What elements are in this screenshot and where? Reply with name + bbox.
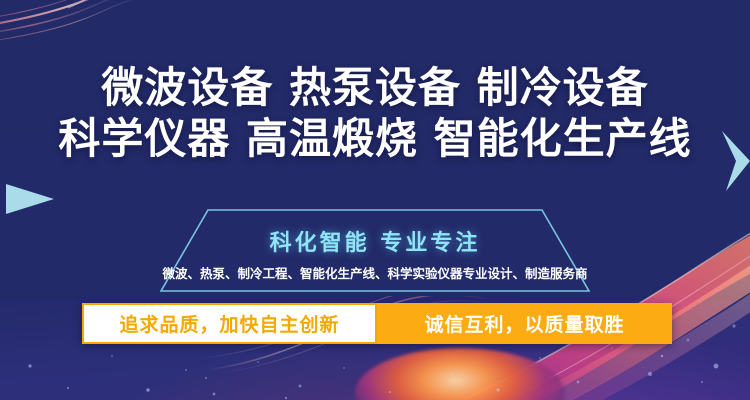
triangle-right-icon: [6, 184, 54, 214]
promotional-banner: 微波设备 热泵设备 制冷设备 科学仪器 高温煅烧 智能化生产线 科化智能 专业专…: [0, 0, 750, 400]
slogan-strip-left: 追求品质，加快自主创新: [82, 303, 377, 344]
bottom-slogan-strips: 追求品质，加快自主创新 诚信互利，以质量取胜: [82, 303, 672, 344]
headline-line-1: 微波设备 热泵设备 制冷设备: [0, 62, 750, 113]
slogan-title: 科化智能 专业专注: [160, 225, 590, 257]
headline-line-2: 科学仪器 高温煅烧 智能化生产线: [0, 113, 750, 164]
slogan-strip-right: 诚信互利，以质量取胜: [377, 303, 672, 344]
slogan-strip-left-text: 追求品质，加快自主创新: [119, 310, 339, 337]
slogan-strip-right-text: 诚信互利，以质量取胜: [424, 310, 624, 337]
page-title: 微波设备 热泵设备 制冷设备 科学仪器 高温煅烧 智能化生产线: [0, 62, 750, 164]
slogan-subtitle: 微波、热泵、制冷工程、智能化生产线、科学实验仪器专业设计、制造服务商: [160, 263, 590, 282]
slogan-trapezoid-box: 科化智能 专业专注 微波、热泵、制冷工程、智能化生产线、科学实验仪器专业设计、制…: [160, 209, 590, 292]
